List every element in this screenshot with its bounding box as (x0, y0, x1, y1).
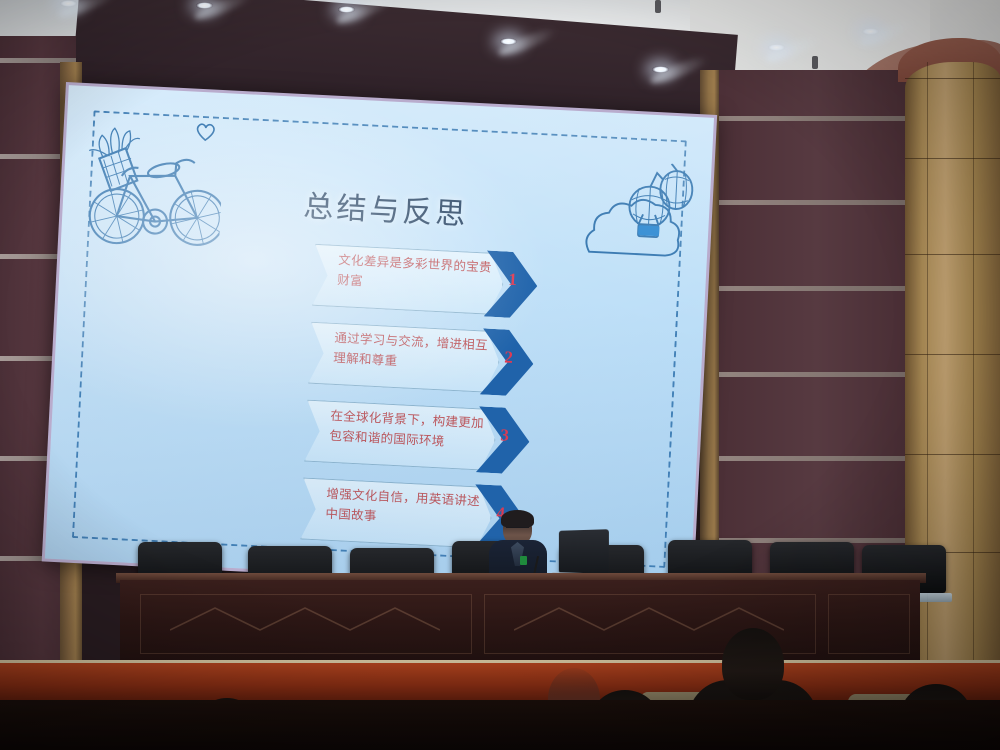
ceiling-spotlight (652, 66, 669, 73)
table-inlay-pattern (514, 606, 784, 632)
slide-bullet: 文化差异是多彩世界的宝贵财富1 (312, 236, 546, 326)
ceiling-spotlight (862, 28, 879, 35)
ceiling-spotlight (338, 6, 355, 13)
presenter-hair (501, 510, 534, 528)
projection-screen-frame: 总结与反思 文化差异是多彩世界的宝贵财富1通过学习与交流，增进相互理解和尊重2在… (42, 82, 717, 594)
slide-bullet: 通过学习与交流，增进相互理解和尊重2 (308, 314, 542, 404)
bullet-text: 文化差异是多彩世界的宝贵财富 (337, 250, 499, 298)
badge-icon (520, 556, 527, 565)
bullet-number: 1 (499, 269, 526, 290)
lecture-hall-photo: 总结与反思 文化差异是多彩世界的宝贵财富1通过学习与交流，增进相互理解和尊重2在… (0, 0, 1000, 750)
audience-head (722, 628, 784, 700)
ceiling-spotlight (196, 2, 213, 9)
ceiling-fixture (812, 56, 818, 69)
ceiling-spotlight (500, 38, 517, 45)
foreground-shadow (0, 700, 1000, 750)
laptop-icon (559, 529, 609, 575)
slide-bullet: 在全球化背景下，构建更加包容和谐的国际环境3 (304, 392, 538, 482)
bullet-text: 增强文化自信，用英语讲述中国故事 (325, 484, 487, 532)
heart-icon (194, 122, 217, 143)
projection-screen: 总结与反思 文化差异是多彩世界的宝贵财富1通过学习与交流，增进相互理解和尊重2在… (45, 85, 714, 591)
table-inlay-pattern (170, 606, 440, 632)
head-table (120, 580, 920, 670)
bullet-text: 在全球化背景下，构建更加包容和谐的国际环境 (329, 406, 491, 454)
bullet-number: 3 (491, 425, 518, 446)
bullet-text: 通过学习与交流，增进相互理解和尊重 (333, 328, 495, 376)
ceiling-spotlight (60, 0, 77, 7)
glasses-icon (506, 527, 529, 533)
ceiling-spotlight (768, 44, 785, 51)
ceiling-fixture (655, 0, 661, 13)
bullet-number: 2 (495, 347, 522, 368)
